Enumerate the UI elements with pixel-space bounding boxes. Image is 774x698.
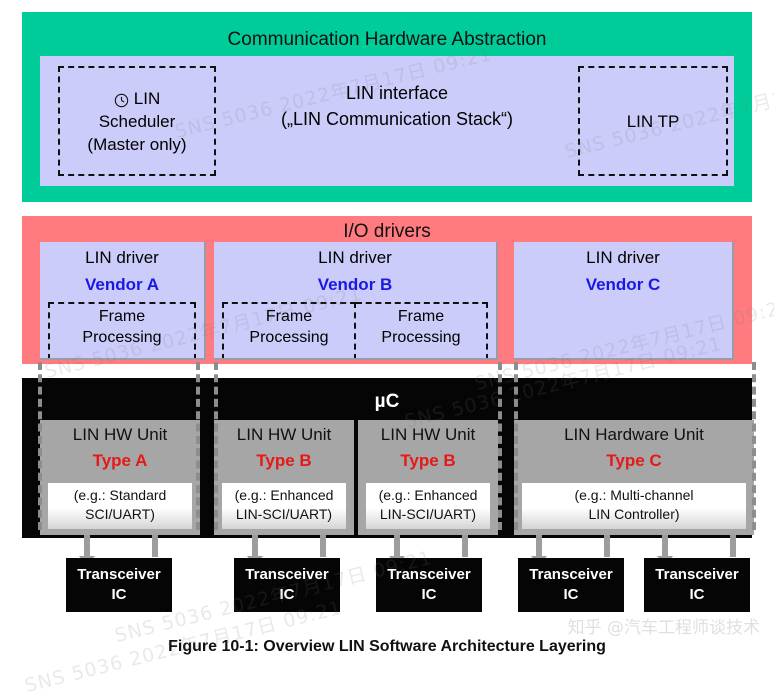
lin-interface-line1: LIN interface bbox=[232, 80, 562, 106]
frame-processing-line2: Processing bbox=[224, 327, 354, 348]
microcontroller-title: µC bbox=[22, 392, 752, 412]
frame-processing-line1: Frame bbox=[50, 306, 194, 327]
transceiver-1-line1: Transceiver bbox=[77, 565, 160, 585]
hw-unit-c-name: LIN Hardware Unit bbox=[514, 424, 754, 446]
connector-line-c-right bbox=[752, 362, 756, 530]
hw-unit-b1-example: (e.g.: Enhanced LIN-SCI/UART) bbox=[222, 483, 346, 529]
lin-scheduler-block[interactable]: LIN Scheduler (Master only) bbox=[58, 66, 216, 176]
lin-driver-vendor-b[interactable]: LIN driver Vendor B Frame Processing Fra… bbox=[214, 242, 498, 360]
hw-unit-a-example-line2: SCI/UART) bbox=[48, 505, 192, 524]
hw-unit-a-example: (e.g.: Standard SCI/UART) bbox=[48, 483, 192, 529]
hw-unit-a-name: LIN HW Unit bbox=[40, 424, 200, 446]
hw-unit-b1-name: LIN HW Unit bbox=[214, 424, 354, 446]
transceiver-ic-2[interactable]: Transceiver IC bbox=[234, 558, 340, 612]
hw-unit-c-type: Type C bbox=[514, 450, 754, 472]
lin-interface-block[interactable]: LIN interface („LIN Communication Stack“… bbox=[232, 80, 562, 132]
hw-unit-c-example-line2: LIN Controller) bbox=[522, 505, 746, 524]
scheduler-label-line1: LIN bbox=[134, 87, 160, 110]
transceiver-2-line1: Transceiver bbox=[245, 565, 328, 585]
driver-a-vendor: Vendor A bbox=[40, 274, 204, 296]
hw-unit-a-example-line1: (e.g.: Standard bbox=[48, 486, 192, 505]
frame-processing-line1: Frame bbox=[356, 306, 486, 327]
frame-processing-line2: Processing bbox=[356, 327, 486, 348]
hw-unit-a-type: Type A bbox=[40, 450, 200, 472]
transceiver-4-line1: Transceiver bbox=[529, 565, 612, 585]
scheduler-label-line2: Scheduler bbox=[99, 110, 176, 133]
transceiver-ic-1[interactable]: Transceiver IC bbox=[66, 558, 172, 612]
frame-processing-block[interactable]: Frame Processing bbox=[222, 302, 356, 360]
hw-unit-b2-example-line2: LIN-SCI/UART) bbox=[366, 505, 490, 524]
lin-driver-vendor-c[interactable]: LIN driver Vendor C bbox=[514, 242, 734, 360]
driver-a-name: LIN driver bbox=[40, 247, 204, 269]
frame-processing-block[interactable]: Frame Processing bbox=[48, 302, 196, 360]
transceiver-3-line2: IC bbox=[422, 585, 437, 605]
transceiver-5-line2: IC bbox=[690, 585, 705, 605]
hw-unit-b2-name: LIN HW Unit bbox=[358, 424, 498, 446]
scheduler-label-line3: (Master only) bbox=[87, 133, 186, 156]
driver-c-name: LIN driver bbox=[514, 247, 732, 269]
lin-architecture-figure: Communication Hardware Abstraction LIN S… bbox=[0, 0, 774, 666]
scheduler-first-line: LIN bbox=[114, 87, 160, 110]
frame-processing-block[interactable]: Frame Processing bbox=[356, 302, 488, 360]
driver-a-blocks: Frame Processing bbox=[48, 302, 196, 360]
communication-layer-title: Communication Hardware Abstraction bbox=[22, 30, 752, 50]
lin-hw-unit-type-b-2[interactable]: LIN HW Unit Type B (e.g.: Enhanced LIN-S… bbox=[358, 420, 498, 535]
frame-processing-line2: Processing bbox=[50, 327, 194, 348]
lin-tp-block[interactable]: LIN TP bbox=[578, 66, 728, 176]
transceiver-5-line1: Transceiver bbox=[655, 565, 738, 585]
driver-c-vendor: Vendor C bbox=[514, 274, 732, 296]
clock-icon bbox=[114, 91, 129, 106]
transceiver-ic-4[interactable]: Transceiver IC bbox=[518, 558, 624, 612]
lin-driver-vendor-a[interactable]: LIN driver Vendor A Frame Processing bbox=[40, 242, 206, 360]
frame-processing-line1: Frame bbox=[224, 306, 354, 327]
transceiver-3-line1: Transceiver bbox=[387, 565, 470, 585]
lin-tp-label: LIN TP bbox=[627, 110, 680, 133]
lin-hw-unit-type-a[interactable]: LIN HW Unit Type A (e.g.: Standard SCI/U… bbox=[40, 420, 200, 535]
connector-line-b-left bbox=[214, 362, 218, 530]
driver-b-blocks: Frame Processing Frame Processing bbox=[222, 302, 488, 360]
driver-b-name: LIN driver bbox=[214, 247, 496, 269]
hw-unit-b1-example-line2: LIN-SCI/UART) bbox=[222, 505, 346, 524]
hw-unit-c-example: (e.g.: Multi-channel LIN Controller) bbox=[522, 483, 746, 529]
transceiver-2-line2: IC bbox=[280, 585, 295, 605]
hw-unit-b2-example-line1: (e.g.: Enhanced bbox=[366, 486, 490, 505]
transceiver-ic-5[interactable]: Transceiver IC bbox=[644, 558, 750, 612]
hw-unit-c-example-line1: (e.g.: Multi-channel bbox=[522, 486, 746, 505]
connector-line-a-right bbox=[196, 362, 200, 530]
lin-hardware-unit-type-c[interactable]: LIN Hardware Unit Type C (e.g.: Multi-ch… bbox=[514, 420, 754, 535]
connector-line-c-left bbox=[514, 362, 518, 530]
hw-unit-b1-example-line1: (e.g.: Enhanced bbox=[222, 486, 346, 505]
credit-watermark: 知乎 @汽车工程师谈技术 bbox=[568, 613, 760, 638]
transceiver-1-line2: IC bbox=[112, 585, 127, 605]
hw-unit-b2-example: (e.g.: Enhanced LIN-SCI/UART) bbox=[366, 483, 490, 529]
transceiver-ic-3[interactable]: Transceiver IC bbox=[376, 558, 482, 612]
hw-unit-b2-type: Type B bbox=[358, 450, 498, 472]
lin-interface-line2: („LIN Communication Stack“) bbox=[232, 106, 562, 132]
driver-b-vendor: Vendor B bbox=[214, 274, 496, 296]
io-drivers-title: I/O drivers bbox=[22, 222, 752, 242]
transceiver-4-line2: IC bbox=[564, 585, 579, 605]
connector-line-b-right bbox=[498, 362, 502, 530]
lin-hw-unit-type-b-1[interactable]: LIN HW Unit Type B (e.g.: Enhanced LIN-S… bbox=[214, 420, 354, 535]
figure-caption: Figure 10-1: Overview LIN Software Archi… bbox=[0, 638, 774, 656]
connector-line-a-left bbox=[38, 362, 42, 530]
hw-unit-b1-type: Type B bbox=[214, 450, 354, 472]
